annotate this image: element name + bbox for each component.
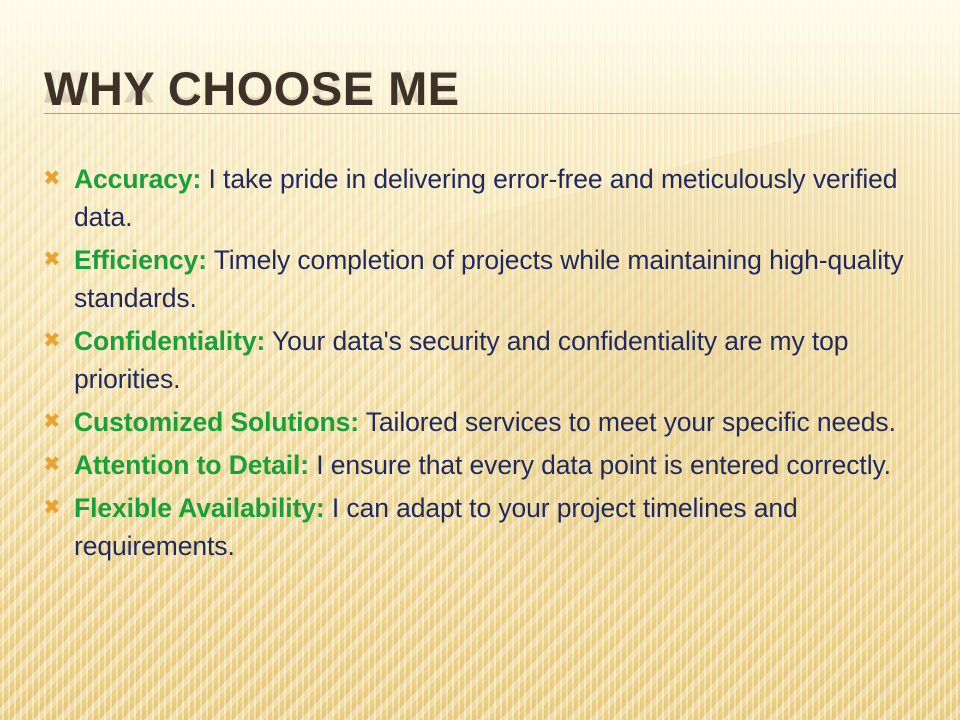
- list-item-text: Confidentiality: Your data's security an…: [74, 322, 943, 398]
- list-item-label: Customized Solutions:: [74, 407, 359, 437]
- bullet-x-icon: ✖: [38, 322, 74, 360]
- list-item: ✖ Accuracy: I take pride in delivering e…: [38, 160, 943, 236]
- list-item-text: Accuracy: I take pride in delivering err…: [74, 160, 943, 236]
- list-item-text: Flexible Availability: I can adapt to yo…: [74, 489, 943, 565]
- bullet-x-icon: ✖: [38, 446, 74, 484]
- bullet-x-icon: ✖: [38, 241, 74, 279]
- list-item-text: Attention to Detail: I ensure that every…: [74, 446, 943, 484]
- list-item: ✖ Customized Solutions: Tailored service…: [38, 403, 943, 441]
- list-item: ✖ Efficiency: Timely completion of proje…: [38, 241, 943, 317]
- list-item-description: Tailored services to meet your specific …: [359, 407, 896, 437]
- list-item-text: Customized Solutions: Tailored services …: [74, 403, 943, 441]
- bullet-x-icon: ✖: [38, 160, 74, 198]
- presentation-slide: WHY CHOOSE ME WHY CHOOSE ME ✖ Accuracy: …: [0, 0, 960, 720]
- slide-title-block: WHY CHOOSE ME WHY CHOOSE ME: [44, 64, 924, 142]
- list-item-label: Flexible Availability:: [74, 493, 325, 523]
- list-item: ✖ Confidentiality: Your data's security …: [38, 322, 943, 398]
- list-item-text: Efficiency: Timely completion of project…: [74, 241, 943, 317]
- bullet-list: ✖ Accuracy: I take pride in delivering e…: [38, 160, 943, 570]
- bullet-x-icon: ✖: [38, 489, 74, 527]
- bullet-x-icon: ✖: [38, 403, 74, 441]
- list-item: ✖ Attention to Detail: I ensure that eve…: [38, 446, 943, 484]
- list-item-label: Confidentiality:: [74, 326, 265, 356]
- list-item-label: Attention to Detail:: [74, 450, 309, 480]
- list-item: ✖ Flexible Availability: I can adapt to …: [38, 489, 943, 565]
- page-title: WHY CHOOSE ME: [44, 64, 460, 114]
- list-item-label: Efficiency:: [74, 245, 207, 275]
- list-item-label: Accuracy:: [74, 164, 201, 194]
- list-item-description: I ensure that every data point is entere…: [309, 450, 891, 480]
